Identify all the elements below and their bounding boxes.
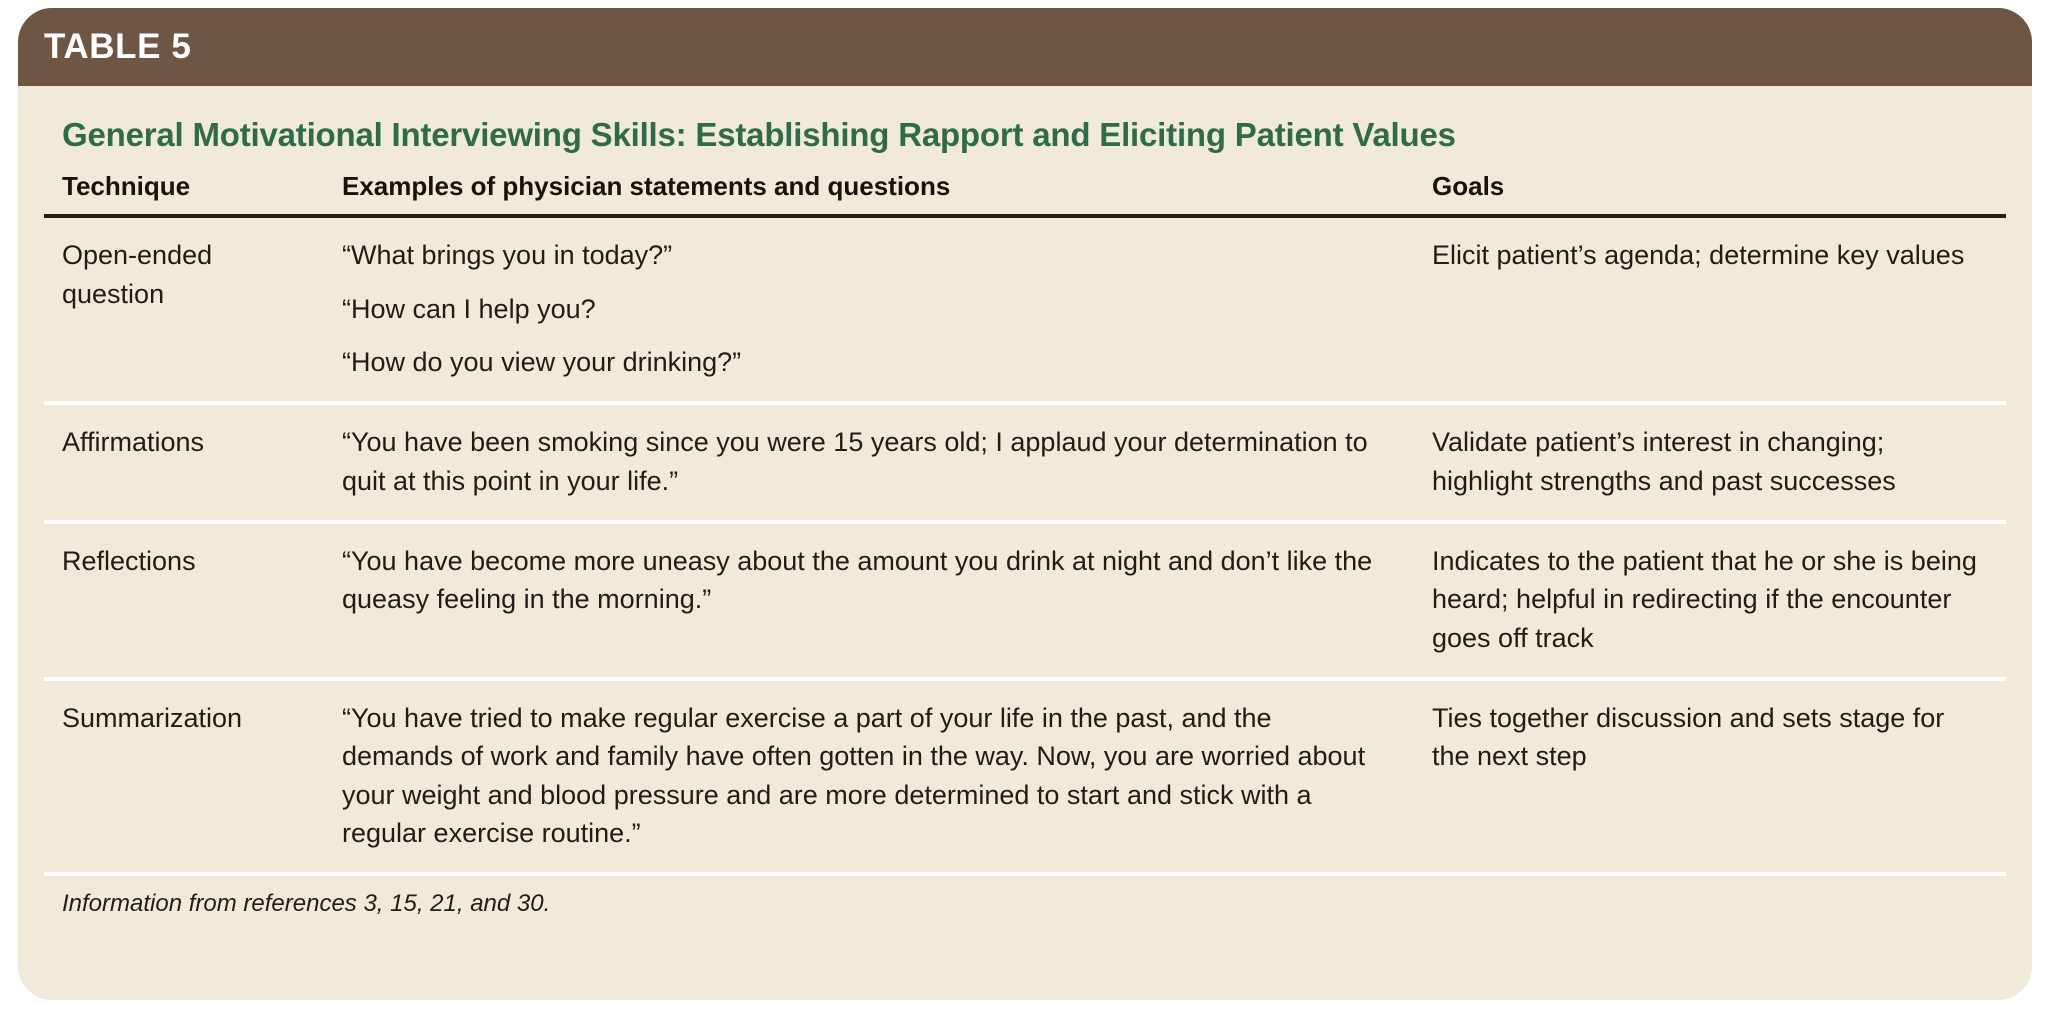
- column-header-technique: Technique: [44, 161, 324, 216]
- example-line: “What brings you in today?”: [342, 236, 1386, 274]
- table-number-label: TABLE 5: [44, 27, 191, 67]
- cell-technique: Summarization: [44, 679, 324, 874]
- table-body: General Motivational Interviewing Skills…: [18, 86, 2032, 918]
- cell-examples: “You have become more uneasy about the a…: [324, 522, 1414, 679]
- cell-technique: Reflections: [44, 522, 324, 679]
- cell-goals: Elicit patient’s agenda; determine key v…: [1414, 216, 2006, 403]
- table-title: General Motivational Interviewing Skills…: [44, 86, 2006, 161]
- table-card: TABLE 5 General Motivational Interviewin…: [18, 8, 2032, 1000]
- table-footnote: Information from references 3, 15, 21, a…: [44, 876, 2006, 918]
- skills-table: Technique Examples of physician statemen…: [44, 161, 2006, 876]
- table-row: Affirmations “You have been smoking sinc…: [44, 403, 2006, 522]
- example-line: “You have been smoking since you were 15…: [342, 423, 1386, 500]
- column-header-goals: Goals: [1414, 161, 2006, 216]
- cell-examples: “You have tried to make regular exercise…: [324, 679, 1414, 874]
- cell-technique: Open-ended question: [44, 216, 324, 403]
- column-header-examples: Examples of physician statements and que…: [324, 161, 1414, 216]
- cell-examples: “What brings you in today?” “How can I h…: [324, 216, 1414, 403]
- example-line: “How do you view your drinking?”: [342, 343, 1386, 381]
- example-line: “You have tried to make regular exercise…: [342, 699, 1386, 852]
- table-row: Summarization “You have tried to make re…: [44, 679, 2006, 874]
- cell-examples: “You have been smoking since you were 15…: [324, 403, 1414, 522]
- example-line: “You have become more uneasy about the a…: [342, 542, 1386, 619]
- table-row: Reflections “You have become more uneasy…: [44, 522, 2006, 679]
- table-body-rows: Open-ended question “What brings you in …: [44, 216, 2006, 874]
- table-header-bar: TABLE 5: [18, 8, 2032, 86]
- cell-goals: Indicates to the patient that he or she …: [1414, 522, 2006, 679]
- cell-technique: Affirmations: [44, 403, 324, 522]
- example-line: “How can I help you?: [342, 290, 1386, 328]
- cell-goals: Validate patient’s interest in changing;…: [1414, 403, 2006, 522]
- table-row: Open-ended question “What brings you in …: [44, 216, 2006, 403]
- table-head: Technique Examples of physician statemen…: [44, 161, 2006, 216]
- header-row: Technique Examples of physician statemen…: [44, 161, 2006, 216]
- cell-goals: Ties together discussion and sets stage …: [1414, 679, 2006, 874]
- table-page: TABLE 5 General Motivational Interviewin…: [0, 0, 2050, 1009]
